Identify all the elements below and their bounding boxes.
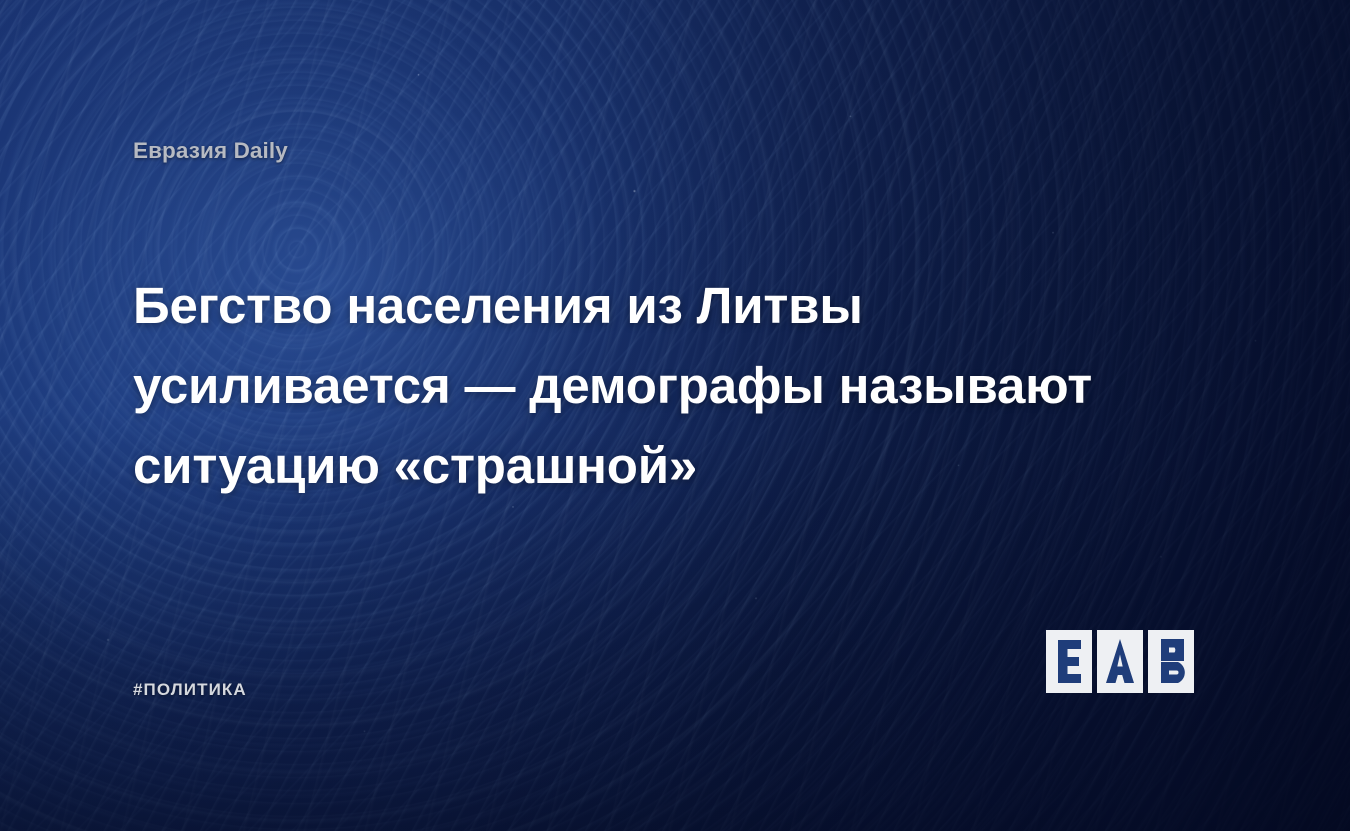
headline-line-2: усиливается — демографы называют	[133, 346, 1193, 426]
eadaily-logo	[1046, 630, 1194, 693]
headline-line-1: Бегство населения из Литвы	[133, 266, 1193, 346]
social-share-card: Евразия Daily Бегство населения из Литвы…	[0, 0, 1350, 831]
logo-tile-e	[1046, 630, 1092, 693]
logo-tile-d	[1148, 630, 1194, 693]
category-hashtag: #ПОЛИТИКА	[133, 680, 247, 700]
headline-line-3: ситуацию «страшной»	[133, 426, 1193, 506]
brand-wordmark: Евразия Daily	[133, 138, 288, 164]
logo-tile-a	[1097, 630, 1143, 693]
card-content: Евразия Daily Бегство населения из Литвы…	[0, 0, 1350, 831]
page-title: Бегство населения из Литвы усиливается —…	[133, 266, 1193, 506]
